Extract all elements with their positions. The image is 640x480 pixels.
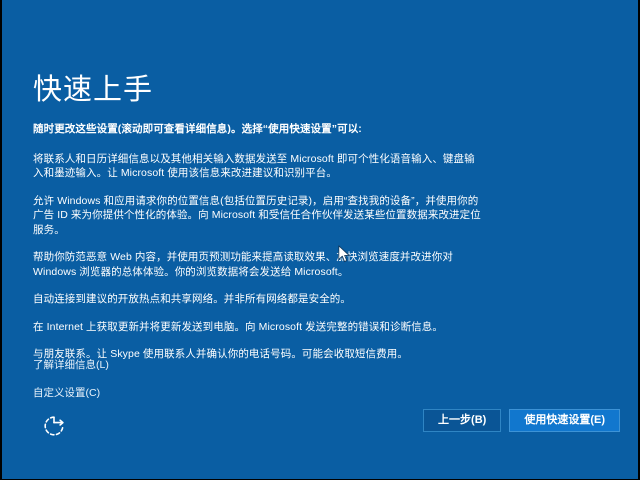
oobe-screen: 快速上手 随时更改这些设置(滚动即可查看详细信息)。选择“使用快速设置”可以: … (2, 0, 638, 479)
paragraph-browsing-protection: 帮助你防范恶意 Web 内容，并使用页预测功能来提高读取效果、加快浏览速度并改进… (33, 250, 483, 279)
paragraph-input-personalization: 将联系人和日历详细信息以及其他相关输入数据发送至 Microsoft 即可个性化… (33, 152, 483, 181)
back-button[interactable]: 上一步(B) (423, 409, 501, 432)
ease-of-access-icon (41, 413, 67, 439)
page-title: 快速上手 (33, 72, 153, 108)
ease-of-access-button[interactable] (38, 410, 70, 442)
button-bar: 上一步(B) 使用快速设置(E) (423, 409, 620, 432)
link-learn-more[interactable]: 了解详细信息(L) (33, 358, 109, 372)
link-stack: 了解详细信息(L) 自定义设置(C) (33, 358, 293, 414)
paragraph-updates: 在 Internet 上获取更新并将更新发送到电脑。向 Microsoft 发送… (33, 320, 483, 335)
paragraph-location: 允许 Windows 和应用请求你的位置信息(包括位置历史记录)，启用“查找我的… (33, 194, 483, 238)
paragraph-hotspots: 自动连接到建议的开放热点和共享网络。并非所有网络都是安全的。 (33, 292, 483, 307)
settings-description-block: 随时更改这些设置(滚动即可查看详细信息)。选择“使用快速设置”可以: 将联系人和… (33, 122, 483, 375)
link-customize-settings[interactable]: 自定义设置(C) (33, 386, 100, 400)
use-express-settings-button[interactable]: 使用快速设置(E) (509, 409, 620, 432)
paragraph-lead: 随时更改这些设置(滚动即可查看详细信息)。选择“使用快速设置”可以: (33, 122, 483, 137)
